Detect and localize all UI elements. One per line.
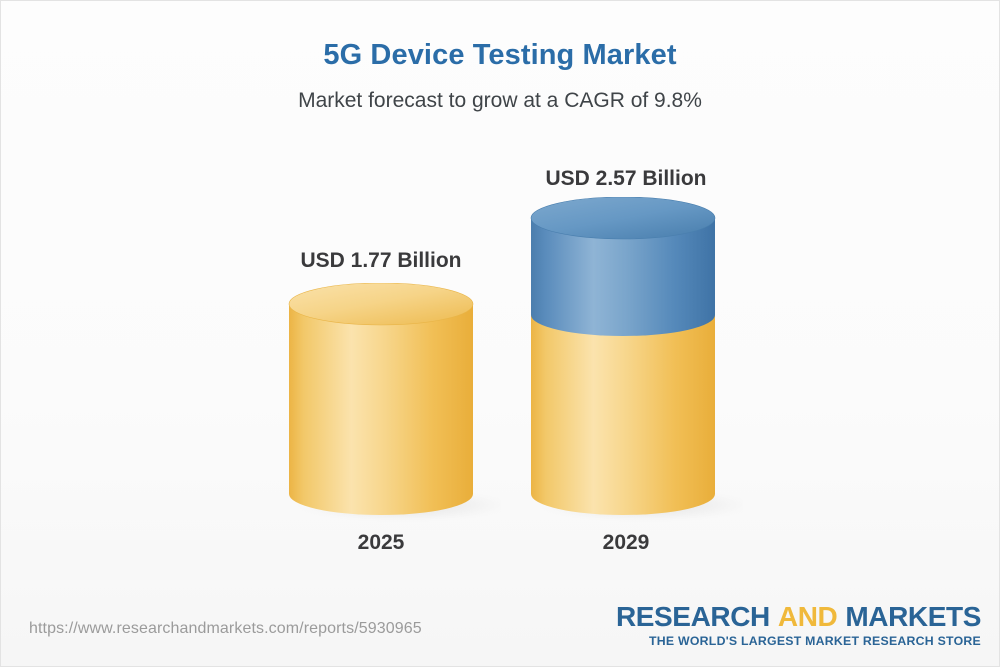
bar-2025 — [271, 283, 501, 528]
cylinder-top-cap — [289, 283, 473, 325]
value-label-2029: USD 2.57 Billion — [526, 167, 726, 191]
chart-card: 5G Device Testing Market Market forecast… — [0, 0, 1000, 667]
category-label-2029: 2029 — [526, 531, 726, 555]
logo-word-and: AND — [778, 601, 837, 632]
cylinder-segment-base — [531, 315, 715, 515]
category-label-2025: 2025 — [281, 531, 481, 555]
research-and-markets-logo[interactable]: RESEARCHANDMARKETS THE WORLD'S LARGEST M… — [616, 602, 981, 648]
logo-word-markets: MARKETS — [845, 601, 981, 632]
bar-2029 — [513, 197, 743, 528]
cylinder-body — [289, 304, 473, 515]
logo-tagline: THE WORLD'S LARGEST MARKET RESEARCH STOR… — [616, 634, 981, 648]
chart-plot-area: USD 1.77 Billion — [1, 1, 1000, 601]
value-label-2025: USD 1.77 Billion — [281, 249, 481, 273]
cylinder-top-cap — [531, 197, 715, 239]
logo-word-research: RESEARCH — [616, 601, 770, 632]
report-url[interactable]: https://www.researchandmarkets.com/repor… — [29, 620, 422, 638]
footer: https://www.researchandmarkets.com/repor… — [1, 594, 999, 666]
logo-wordmark: RESEARCHANDMARKETS — [616, 602, 981, 631]
